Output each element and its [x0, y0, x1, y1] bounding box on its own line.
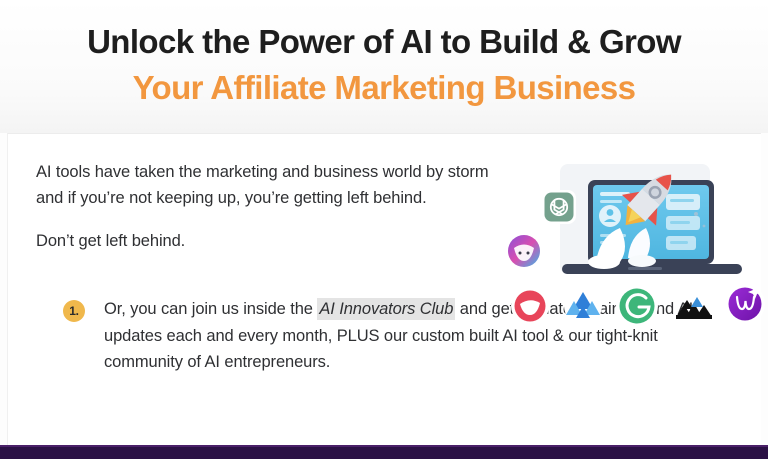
paragraph-dont-get-left-behind: Don’t get left behind.	[36, 229, 506, 255]
jasper-logo-icon	[511, 287, 549, 325]
content-card: AI tools have taken the marketing and bu…	[7, 133, 761, 447]
headline-line-1: Unlock the Power of AI to Build & Grow	[0, 22, 768, 62]
footer-bar	[0, 445, 768, 459]
openai-logo-icon	[542, 190, 576, 224]
body-text-group: AI tools have taken the marketing and bu…	[36, 160, 506, 255]
headline-line-2: Your Affiliate Marketing Business	[0, 68, 768, 108]
list-number-badge: 1.	[63, 300, 85, 322]
hero-illustration	[500, 154, 768, 334]
list-text-before: Or, you can join us inside the	[104, 300, 317, 318]
promo-page: Unlock the Power of AI to Build & Grow Y…	[0, 0, 768, 459]
writesonic-logo-icon	[725, 284, 765, 324]
headline-block: Unlock the Power of AI to Build & Grow Y…	[0, 0, 768, 133]
gradient-circle-ai-logo-icon	[505, 232, 543, 270]
grammarly-logo-icon	[616, 285, 658, 327]
highlighted-club-name: AI Innovators Club	[317, 298, 455, 320]
midjourney-logo-icon	[672, 288, 712, 328]
paragraph-intro: AI tools have taken the marketing and bu…	[36, 160, 506, 211]
copyai-logo-icon	[564, 287, 602, 325]
